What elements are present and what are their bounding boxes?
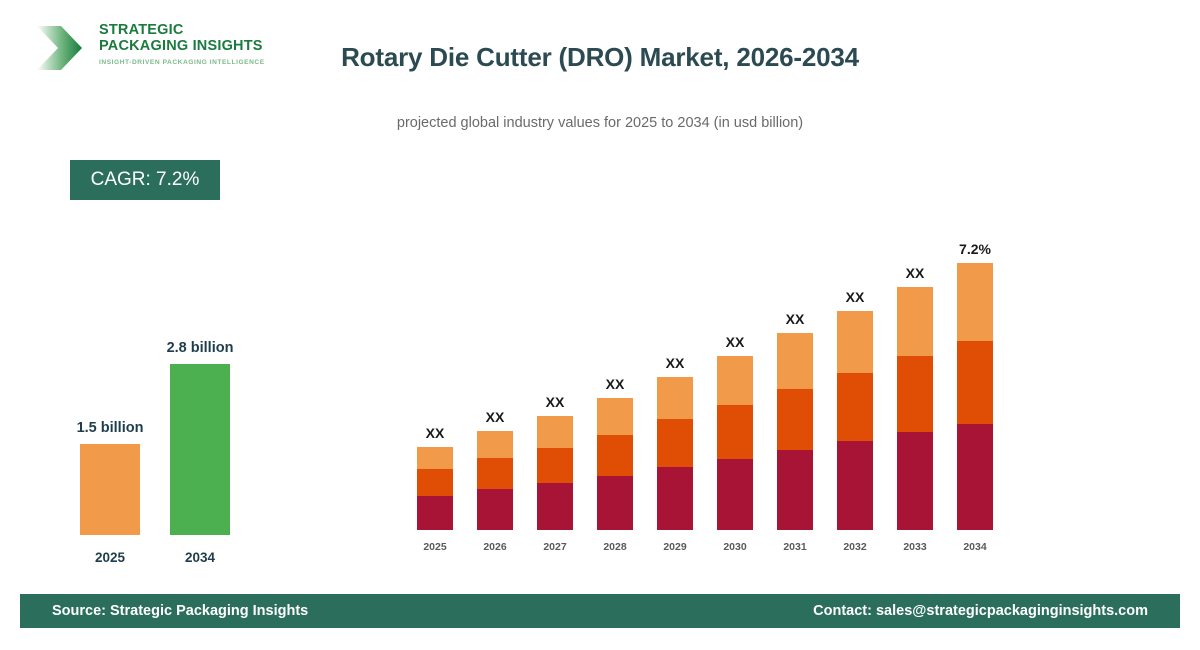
stacked-column-2030: XX2030 bbox=[717, 356, 753, 555]
cagr-badge: CAGR: 7.2% bbox=[70, 160, 220, 200]
stacked-bar-2032 bbox=[837, 311, 873, 530]
stacked-bar-2033 bbox=[897, 287, 933, 530]
stacked-column-2027: XX2027 bbox=[537, 416, 573, 555]
comparison-bar-2034 bbox=[170, 364, 230, 535]
stacked-year-label-2030: 2030 bbox=[705, 541, 765, 553]
stacked-segment-segment-top-2034 bbox=[957, 263, 993, 341]
stacked-column-2029: XX2029 bbox=[657, 377, 693, 555]
stacked-segment-segment-bottom-2027 bbox=[537, 483, 573, 530]
stacked-forecast-chart: XX2025XX2026XX2027XX2028XX2029XX2030XX20… bbox=[400, 195, 1040, 555]
stacked-segment-segment-top-2027 bbox=[537, 416, 573, 448]
stacked-segment-segment-middle-2028 bbox=[597, 435, 633, 476]
stacked-segment-segment-bottom-2026 bbox=[477, 489, 513, 530]
stacked-year-label-2025: 2025 bbox=[405, 541, 465, 553]
stacked-bar-2027 bbox=[537, 416, 573, 530]
stacked-segment-segment-middle-2034 bbox=[957, 341, 993, 424]
stacked-segment-segment-bottom-2028 bbox=[597, 476, 633, 530]
comparison-value-label-2034: 2.8 billion bbox=[100, 340, 300, 356]
stacked-segment-segment-top-2025 bbox=[417, 447, 453, 469]
endpoint-comparison-chart: 1.5 billion20252.8 billion2034 bbox=[40, 300, 320, 575]
stacked-column-2028: XX2028 bbox=[597, 398, 633, 555]
stacked-bar-2031 bbox=[777, 333, 813, 530]
stacked-segment-segment-bottom-2029 bbox=[657, 467, 693, 530]
stacked-bar-label-2034: 7.2% bbox=[915, 241, 1035, 257]
footer-source-text: Source: Strategic Packaging Insights bbox=[52, 603, 308, 619]
stacked-segment-segment-middle-2027 bbox=[537, 448, 573, 484]
stacked-segment-segment-bottom-2030 bbox=[717, 459, 753, 530]
stacked-column-2025: XX2025 bbox=[417, 447, 453, 555]
page-title: Rotary Die Cutter (DRO) Market, 2026-203… bbox=[0, 42, 1200, 73]
stacked-column-2034: 7.2%2034 bbox=[957, 263, 993, 555]
stacked-year-label-2031: 2031 bbox=[765, 541, 825, 553]
stacked-bar-2030 bbox=[717, 356, 753, 530]
stacked-segment-segment-top-2029 bbox=[657, 377, 693, 419]
stacked-year-label-2026: 2026 bbox=[465, 541, 525, 553]
stacked-bar-2028 bbox=[597, 398, 633, 530]
comparison-year-label-2034: 2034 bbox=[170, 550, 230, 565]
stacked-segment-segment-middle-2032 bbox=[837, 373, 873, 441]
logo-line-1: STRATEGIC bbox=[99, 23, 265, 39]
stacked-segment-segment-middle-2026 bbox=[477, 458, 513, 489]
stacked-bar-2026 bbox=[477, 431, 513, 530]
stacked-year-label-2028: 2028 bbox=[585, 541, 645, 553]
stacked-segment-segment-top-2033 bbox=[897, 287, 933, 356]
stacked-segment-segment-bottom-2025 bbox=[417, 496, 453, 530]
comparison-column-2034: 2.8 billion bbox=[170, 364, 230, 535]
stacked-year-label-2027: 2027 bbox=[525, 541, 585, 553]
page-subtitle: projected global industry values for 202… bbox=[0, 115, 1200, 131]
stacked-bar-2034 bbox=[957, 263, 993, 530]
stacked-column-2032: XX2032 bbox=[837, 311, 873, 555]
stacked-segment-segment-bottom-2032 bbox=[837, 441, 873, 530]
stacked-segment-segment-middle-2033 bbox=[897, 356, 933, 432]
footer-bar: Source: Strategic Packaging Insights Con… bbox=[20, 594, 1180, 628]
comparison-column-2025: 1.5 billion bbox=[80, 444, 140, 535]
stacked-segment-segment-middle-2031 bbox=[777, 389, 813, 450]
stacked-segment-segment-top-2030 bbox=[717, 356, 753, 405]
stacked-segment-segment-top-2031 bbox=[777, 333, 813, 389]
stacked-segment-segment-bottom-2031 bbox=[777, 450, 813, 530]
footer-contact-text: Contact: sales@strategicpackaginginsight… bbox=[813, 603, 1148, 619]
stacked-segment-segment-bottom-2034 bbox=[957, 424, 993, 530]
stacked-segment-segment-top-2028 bbox=[597, 398, 633, 435]
stacked-year-label-2034: 2034 bbox=[945, 541, 1005, 553]
stacked-year-label-2032: 2032 bbox=[825, 541, 885, 553]
stacked-segment-segment-top-2026 bbox=[477, 431, 513, 458]
comparison-year-label-2025: 2025 bbox=[80, 550, 140, 565]
stacked-column-2033: XX2033 bbox=[897, 287, 933, 555]
stacked-year-label-2033: 2033 bbox=[885, 541, 945, 553]
stacked-column-2031: XX2031 bbox=[777, 333, 813, 555]
stacked-year-label-2029: 2029 bbox=[645, 541, 705, 553]
stacked-column-2026: XX2026 bbox=[477, 431, 513, 555]
stacked-bar-2029 bbox=[657, 377, 693, 530]
stacked-segment-segment-middle-2025 bbox=[417, 469, 453, 496]
stacked-segment-segment-bottom-2033 bbox=[897, 432, 933, 530]
stacked-segment-segment-middle-2030 bbox=[717, 405, 753, 459]
comparison-bar-2025 bbox=[80, 444, 140, 535]
stacked-segment-segment-top-2032 bbox=[837, 311, 873, 373]
stacked-bar-2025 bbox=[417, 447, 453, 530]
stacked-segment-segment-middle-2029 bbox=[657, 419, 693, 467]
